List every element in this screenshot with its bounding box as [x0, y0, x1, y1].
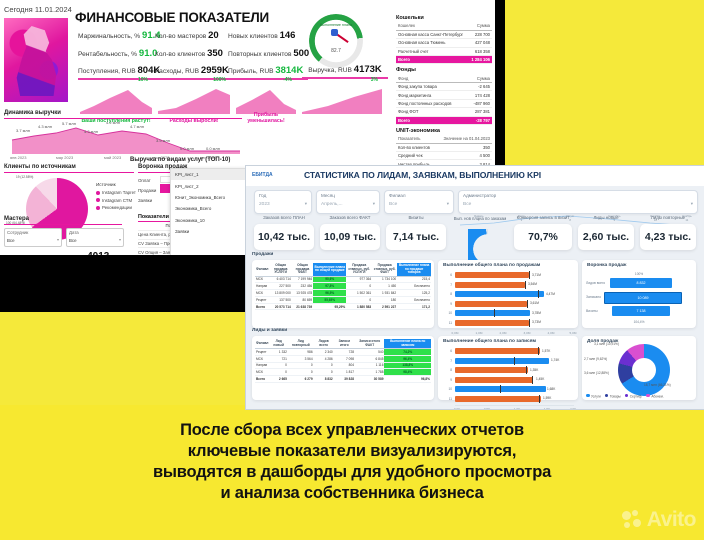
table-row: МСК 6 403 714 7 199 946 90,6% 977 364 1 … — [255, 276, 431, 283]
kpi-repeat-clients: Повторных клиентов 500 — [228, 48, 308, 59]
leads-table: Филиал Лид новый Лид повторный Лидов все… — [255, 339, 431, 383]
slice-label: 18,7 млн (66,21%) — [644, 384, 671, 388]
avito-watermark: Avito — [622, 508, 696, 532]
card-orders-fact: Заказов всего ФАКТ 10,09 тыс. — [320, 224, 380, 250]
card-visits: Визиты 7,14 тыс. — [386, 224, 446, 250]
funnel-row: Записано 10 089 — [586, 292, 692, 303]
wallets-table: Кошелек Сумма Основная касса Санкт-Петер… — [396, 22, 492, 64]
table-row: Основная касса Тюмень 427 048 — [396, 39, 492, 47]
cropped-black-area — [0, 255, 245, 312]
funds-table: Фонд Сумма Фонд закупа товара -2 645 Фон… — [396, 74, 492, 125]
brand-portrait-image — [4, 18, 68, 102]
table-row: Расчетный счет 618 358 — [396, 47, 492, 55]
menu-item-economics-10[interactable]: Экономика_10 — [171, 215, 246, 226]
bar-row: 9 3,61M — [442, 301, 574, 308]
filter-employee[interactable]: Сотрудник Все ▾ — [4, 228, 62, 247]
card-new-leads: Лиды новые 2,60 тыс. — [578, 224, 634, 250]
chevron-down-icon: ▾ — [373, 201, 375, 207]
kpi-statistics-dashboard: ЕБИТДА СТАТИСТИКА ПО ЛИДАМ, ЗАЯВКАМ, ВЫП… — [245, 165, 704, 410]
chevron-down-icon: ▾ — [57, 237, 59, 242]
table-row: Кол-во клиентов 350 — [396, 143, 492, 151]
unit-economics-title: UNIT-экономика — [396, 128, 492, 134]
legend-item: Instagram Таргет — [96, 190, 136, 195]
chart-point-label: 3.5 млн — [156, 138, 170, 143]
banner-line-3: выводятся в дашборды для удобного просмо… — [32, 462, 672, 483]
table-row: МСК 13 809 000 13 925 478 96,5% 1 502 36… — [255, 290, 431, 297]
leads-table-title: Лиды и заявки — [252, 328, 287, 333]
kpi-dashboard-title: СТАТИСТИКА ПО ЛИДАМ, ЗАЯВКАМ, ВЫПОЛНЕНИЮ… — [304, 170, 541, 180]
sparkline-area-icon — [80, 86, 152, 114]
table-row: Основная касса Санкт-Петербург 228 700 — [396, 30, 492, 38]
menu-item-requests[interactable]: Заявки — [171, 226, 246, 237]
chart-x-label: янв 2023 — [10, 155, 27, 160]
bar-row: 10 1,68K — [442, 386, 574, 393]
filter-year[interactable]: Год 2023 ▾ — [254, 190, 312, 214]
pie-slice-label: 19 (12.58%) — [16, 176, 33, 180]
share-panel: Доля продаж 3,1 млн (10,91%) 2,7 млн (9,… — [582, 336, 696, 400]
legend-item: Рекомендации — [96, 205, 136, 210]
kpi-clients-count: Кол-во клиентов 350 — [155, 48, 237, 59]
table-row: Направ 227 500 232 456 97,8% 0 1 450 Бес… — [255, 283, 431, 290]
plan-gauge: Выполнение плана 82.7 — [305, 14, 367, 62]
plan-records-panel: Выполнение общего плана по записям 6 1,5… — [438, 336, 578, 400]
chart-point-label: 4.3 млн — [84, 129, 98, 134]
sales-table: Филиал Общая продажа УСЛУГИ Общая продаж… — [255, 263, 431, 310]
bar-row: 11 3,73M — [442, 320, 574, 327]
sales-table-title: Продажи — [252, 252, 273, 257]
card-repeat-leads: Лиды повторные 4,23 тыс. — [640, 224, 696, 250]
gauge-caption: Выполнение плана — [305, 23, 367, 27]
avito-dots-icon — [622, 510, 644, 530]
plan-sales-title: Выполнение общего плана по продажам — [443, 263, 540, 268]
sales-table-panel: Продажи Филиал Общая продажа УСЛУГИ Обща… — [252, 260, 434, 328]
banner-line-2: ключевые показатели визуализируются, — [32, 441, 672, 462]
gauge-value: 82.7 — [305, 48, 367, 54]
chevron-down-icon: ▾ — [447, 201, 449, 207]
menu-item-economics-all[interactable]: Экономика_Всего — [171, 203, 246, 214]
plan-records-bars: 6 1,57K 7 1,74K 8 1,35K — [442, 348, 574, 410]
ebitda-logo: ЕБИТДА — [252, 172, 273, 178]
bar-row: 6 1,57K — [442, 348, 574, 355]
plan-records-title: Выполнение общего плана по записям — [443, 339, 536, 344]
financial-dashboard-title: ФИНАНСОВЫЕ ПОКАЗАТЕЛИ — [75, 10, 269, 25]
slice-label: 3,1 млн (10,91%) — [594, 343, 619, 347]
table-total-row: Всего 1 284 106 — [396, 55, 492, 63]
bar-row: 11 1,59K — [442, 396, 574, 403]
x-axis: 0,0M 1,0M 2,0M 3,0M 4,0M 5,0M — [455, 329, 574, 336]
funnel-chart: 100% Лидов всего 8 832 Записано 10 089 В… — [586, 272, 692, 324]
card-plan-gauge: Вып. нов плана по заказам 96,8% — [452, 216, 508, 263]
table-row: Фонд закупа товара -2 645 — [396, 83, 492, 91]
legend-item: Услуги — [586, 394, 601, 399]
table-row: МСК 721 3 564 4 286 7 098 6 845 96,4% — [255, 355, 431, 362]
clients-source-title: Клиенты по источникам — [4, 164, 76, 170]
unit-economics-table: Показатель Значение на 01.04.2023 Кол-во… — [396, 135, 492, 169]
funnel-top-pct: 100% — [586, 272, 692, 276]
chart-point-label: 0.0 млн — [206, 146, 220, 151]
chevron-down-icon: ▾ — [305, 201, 307, 207]
revenue-services-top10-title: Выручка по видам услуг (ТОП-10) — [130, 157, 230, 163]
chart-x-label: май 2023 — [104, 155, 121, 160]
chart-point-label: 4.3 млн — [38, 124, 52, 129]
sparkline-caption: Прибыль уменьшилась! — [236, 112, 296, 124]
avito-wordmark: Avito — [647, 508, 696, 532]
filter-branch[interactable]: Филиал Все ▾ — [384, 190, 454, 214]
funnel-title: Воронка продаж — [587, 263, 626, 268]
chart-x-label: мар 2023 — [56, 155, 73, 160]
bar-row: 7 3,54M — [442, 282, 574, 289]
sparkline-area-icon — [302, 86, 382, 114]
bar-row: 8 1,35K — [442, 367, 574, 374]
sparkline-pct: 10% — [138, 77, 148, 83]
chart-point-label: 4.7 млн — [130, 124, 144, 129]
funnel-row: Визиты 7 138 — [586, 306, 692, 317]
menu-item-kpi-list-1[interactable]: KPI_лист_1 — [171, 169, 246, 180]
plan-sales-panel: Выполнение общего плана по продажам 6 3,… — [438, 260, 578, 328]
kpi-masters-count: Кол-во мастеров 20 — [155, 30, 237, 41]
legend-item: Абонем. — [646, 394, 663, 399]
sparkline-pct: 100% — [213, 77, 226, 83]
legend-item: Товары — [605, 394, 621, 399]
bar-row: 6 3,71M — [442, 272, 574, 279]
sparkline-income: 10% Ваши поступления растут! — [80, 78, 152, 114]
menu-item-unit-economics-all[interactable]: Юнит_Экономика_Всего — [171, 192, 246, 203]
legend-item: Сертиф. — [625, 394, 643, 399]
sheet-dropdown-menu[interactable]: KPI_лист_1 KPI_лист_2 Юнит_Экономика_Все… — [170, 168, 247, 258]
sparkline-area-icon — [236, 86, 296, 114]
sparkline-profit: -4% Прибыль уменьшилась! — [236, 78, 296, 114]
sparkline-expenses: 100% Расходы выросли! — [158, 78, 230, 114]
funnel-row: Лидов всего 8 832 — [586, 278, 692, 289]
leads-table-panel: Лиды и заявки Филиал Лид новый Лид повто… — [252, 336, 434, 400]
sparkline-pct: -4% — [283, 77, 292, 83]
table-total-row: Всего 20 573 714 21 638 739 95,29% 1 880… — [255, 303, 431, 310]
wallets-panel: Кошельки Кошелек Сумма Основная касса Са… — [396, 12, 492, 169]
funnel-bottom-pct: 104,4% — [586, 320, 692, 324]
share-legend: Услуги Товары Сертиф. Абонем. — [586, 394, 664, 399]
table-row: МСК 0 0 0 1 817 1 788 98,4% — [255, 369, 431, 376]
table-row: Фонд маркетинга 174 428 — [396, 91, 492, 99]
card-orders-plan: Заказов всего ПЛАН 10,42 тыс. — [254, 224, 314, 250]
sparkline-area-icon — [158, 86, 230, 114]
sparkline-pct: 3% — [371, 77, 378, 83]
banner-line-4: и анализа собственника бизнеса — [32, 483, 672, 504]
kpi-new-clients: Новых клиентов 146 — [228, 30, 308, 41]
masters-title: Мастера — [4, 216, 29, 222]
bar-row: 8 4,47M — [442, 291, 574, 298]
table-total-row: Всего 2 665 6 279 8 832 39 828 30 589 96… — [255, 376, 431, 383]
chart-point-label: 5.7 млн — [62, 121, 76, 126]
promo-banner-text: После сбора всех управленческих отчетов … — [32, 420, 672, 504]
plan-sales-bars: 6 3,71M 7 3,54M 8 4,47M — [442, 272, 574, 336]
table-row: Рецепт 1 332 986 2 340 728 540 74,2% — [255, 349, 431, 356]
bar-row: 9 1,45K — [442, 377, 574, 384]
chevron-down-icon: ▾ — [691, 201, 693, 207]
bar-row: 7 1,74K — [442, 358, 574, 365]
chart-point-label: 3.7 млн — [16, 128, 30, 133]
screenshot-root: После сбора всех управленческих отчетов … — [0, 0, 704, 540]
sparkline-revenue: 3% — [302, 78, 382, 114]
table-row: Фонд постоянных расходов -487 960 — [396, 99, 492, 107]
funds-title: Фонды — [396, 67, 492, 73]
revenue-dynamics-title: Динамика выручки — [4, 110, 61, 116]
x-axis: 0,0K 0,5K 1,0K 1,5K 2,0K — [455, 405, 574, 410]
bar-row: 10 3,78M — [442, 310, 574, 317]
wallets-title: Кошельки — [396, 15, 492, 21]
slice-label: 2,7 млн (9,62%) — [584, 358, 607, 362]
table-row: Рецепт 137 500 80 659 55,65% 0 180 Беспл… — [255, 296, 431, 303]
table-row: Направ 0 0 0 804 1 116 138,8% — [255, 362, 431, 369]
share-donut-chart — [618, 344, 670, 396]
funnel-panel: Воронка продаж 100% Лидов всего 8 832 За… — [582, 260, 696, 328]
table-row: Средний чек 4 500 — [396, 152, 492, 160]
card-conversion: Конверсия запись в визит 70,7% — [514, 224, 572, 250]
filter-month[interactable]: Месяц Апрель,... ▾ — [316, 190, 380, 214]
filter-date[interactable]: Дата Все ▾ — [66, 228, 124, 247]
slice-label: 3,6 млн (12,88%) — [584, 372, 609, 376]
chevron-down-icon: ▾ — [119, 237, 121, 242]
chart-point-label: 0.0 млн — [180, 146, 194, 151]
table-total-row: Всего -28 797 — [396, 116, 492, 124]
table-row: Фонд ФОТ 287 381 — [396, 108, 492, 116]
filter-administrator[interactable]: Администратор Все ▾ — [458, 190, 698, 214]
banner-line-1: После сбора всех управленческих отчетов — [32, 420, 672, 441]
clients-source-legend: Источник Instagram Таргет Instagram СТМ … — [96, 182, 136, 213]
today-label: Сегодня 11.01.2024 — [4, 5, 72, 14]
chart-point-label: 4.2 млн — [106, 120, 120, 125]
menu-item-kpi-list-2[interactable]: KPI_лист_2 — [171, 180, 246, 191]
legend-item: Instagram СТМ — [96, 198, 136, 203]
gauge-hub-icon — [331, 29, 338, 36]
